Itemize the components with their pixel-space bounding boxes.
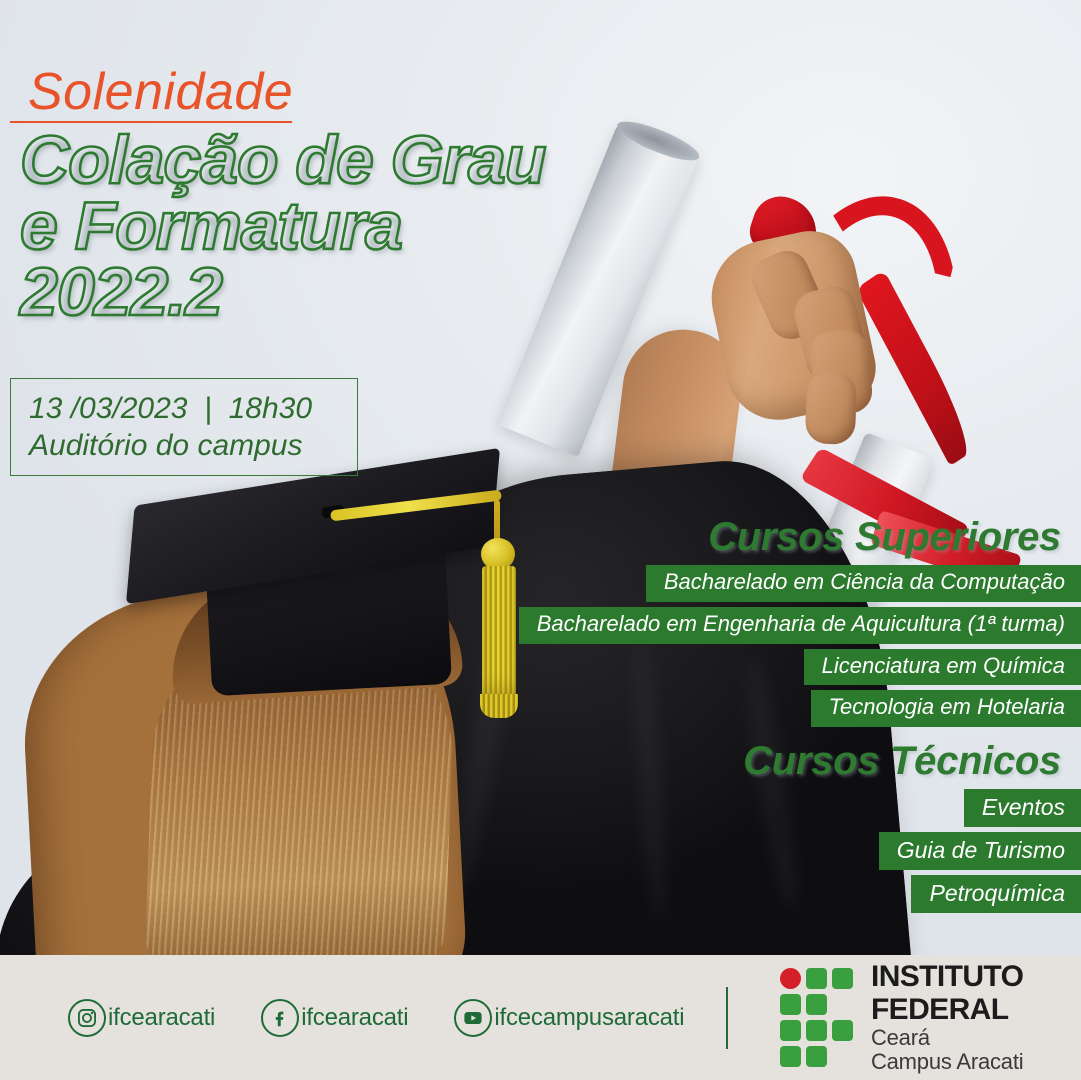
logo-cell [780,994,801,1015]
course-chip-computacao: Bacharelado em Ciência da Computação [646,565,1081,602]
logo-cell-empty [832,994,853,1015]
course-row: Petroquímica [661,875,1081,913]
eyebrow-label: Solenidade [28,66,293,118]
footer-bar: ifcearacati ifcearacati ifcecampusa [0,955,1081,1080]
logo-cell [806,1046,827,1067]
logo-cell [780,1020,801,1041]
title-line-1: Colação de Grau [20,122,545,198]
facebook-icon [261,999,299,1037]
youtube-icon [454,999,492,1037]
course-chip-guia-turismo: Guia de Turismo [879,832,1081,870]
course-chip-petroquimica: Petroquímica [911,875,1081,913]
course-chip-eventos: Eventos [964,789,1081,827]
title-line-2: e Formatura [20,188,402,264]
title-line-3: 2022.2 [20,254,222,330]
section-cursos-tecnicos: Cursos Técnicos Eventos Guia de Turismo … [661,740,1081,918]
youtube-handle: ifcecampusaracati [494,1004,684,1032]
footer-divider [726,987,728,1049]
section-cursos-superiores: Cursos Superiores Bacharelado em Ciência… [541,516,1081,732]
course-chip-quimica: Licenciatura em Química [804,649,1081,686]
course-row: Bacharelado em Engenharia de Aquicultura… [541,607,1081,644]
course-row: Guia de Turismo [661,832,1081,870]
course-row: Bacharelado em Ciência da Computação [541,565,1081,602]
logo-cell-empty [832,1046,853,1067]
logo-cell [832,1020,853,1041]
logo-cell [832,968,853,989]
brand-line-campus: Campus Aracati [871,1050,1081,1074]
page-title: Colação de Grau e Formatura 2022.2 [20,128,545,326]
logo-cell [806,1020,827,1041]
instagram-handle: ifcearacati [108,1004,215,1032]
social-link-youtube[interactable]: ifcecampusaracati [454,999,684,1037]
if-logo-mark [780,968,853,1067]
logo-cell-red-circle [780,968,801,989]
course-row: Eventos [661,789,1081,827]
tassel-fringe [482,566,516,706]
brand-wordmark: INSTITUTO FEDERAL Ceará Campus Aracati [871,961,1081,1073]
event-date-time: 13 /03/2023 | 18h30 [29,391,357,428]
instagram-icon [68,999,106,1037]
brand-line-ceara: Ceará [871,1026,1081,1050]
logo-cell [806,994,827,1015]
event-venue: Auditório do campus [29,428,357,465]
course-chip-aquicultura: Bacharelado em Engenharia de Aquicultura… [519,607,1081,644]
course-row: Tecnologia em Hotelaria [541,690,1081,727]
section-heading-tecnicos: Cursos Técnicos [661,740,1081,782]
institutional-logo: INSTITUTO FEDERAL Ceará Campus Aracati [780,961,1081,1073]
logo-cell [780,1046,801,1067]
brand-line-instituto-federal: INSTITUTO FEDERAL [871,961,1081,1026]
graduation-event-poster: Solenidade Colação de Grau e Formatura 2… [0,0,1081,1080]
logo-cell [806,968,827,989]
course-chip-hotelaria: Tecnologia em Hotelaria [811,690,1081,727]
section-heading-superiores: Cursos Superiores [541,516,1081,558]
course-row: Licenciatura em Química [541,649,1081,686]
event-datetime-box: 13 /03/2023 | 18h30 Auditório do campus [10,378,358,476]
social-link-facebook[interactable]: ifcearacati [261,999,408,1037]
social-link-instagram[interactable]: ifcearacati [68,999,215,1037]
social-links: ifcearacati ifcearacati ifcecampusa [68,999,684,1037]
facebook-handle: ifcearacati [301,1004,408,1032]
finger-pinky [805,371,857,445]
